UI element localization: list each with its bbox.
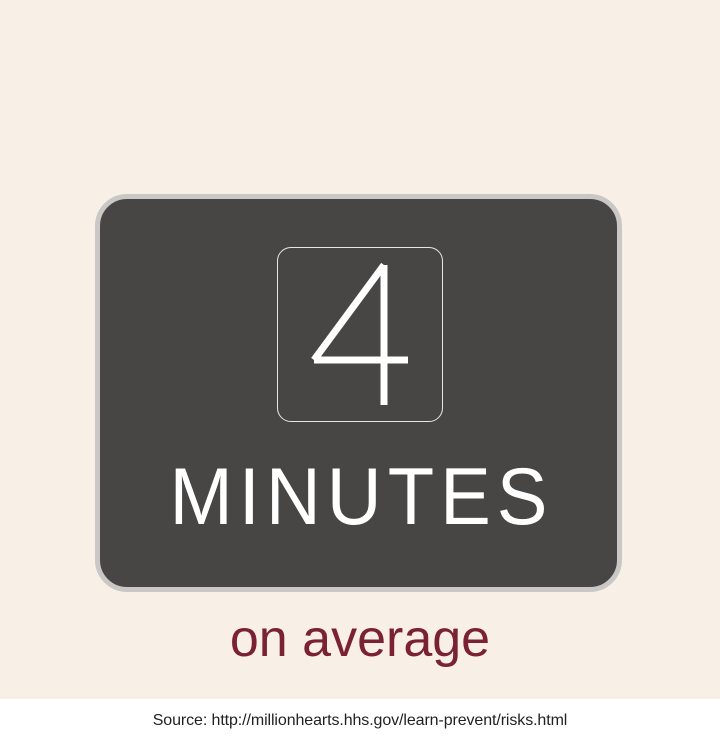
unit-label: MINUTES: [100, 454, 617, 541]
subcaption: on average: [0, 608, 720, 670]
footer-band: Source: http://millionhearts.hhs.gov/lea…: [0, 699, 720, 742]
source-citation: Source: http://millionhearts.hhs.gov/lea…: [153, 711, 568, 731]
infographic-body: One American dies from stroke every 4 MI…: [0, 0, 720, 699]
stroke-statistic-infographic: One American dies from stroke every 4 MI…: [0, 0, 720, 742]
statistic-card: 4 MINUTES: [95, 194, 622, 592]
statistic-card-content: 4 MINUTES: [100, 199, 617, 587]
number-four-glyph: [308, 259, 412, 411]
numeral-box: 4: [277, 247, 443, 422]
